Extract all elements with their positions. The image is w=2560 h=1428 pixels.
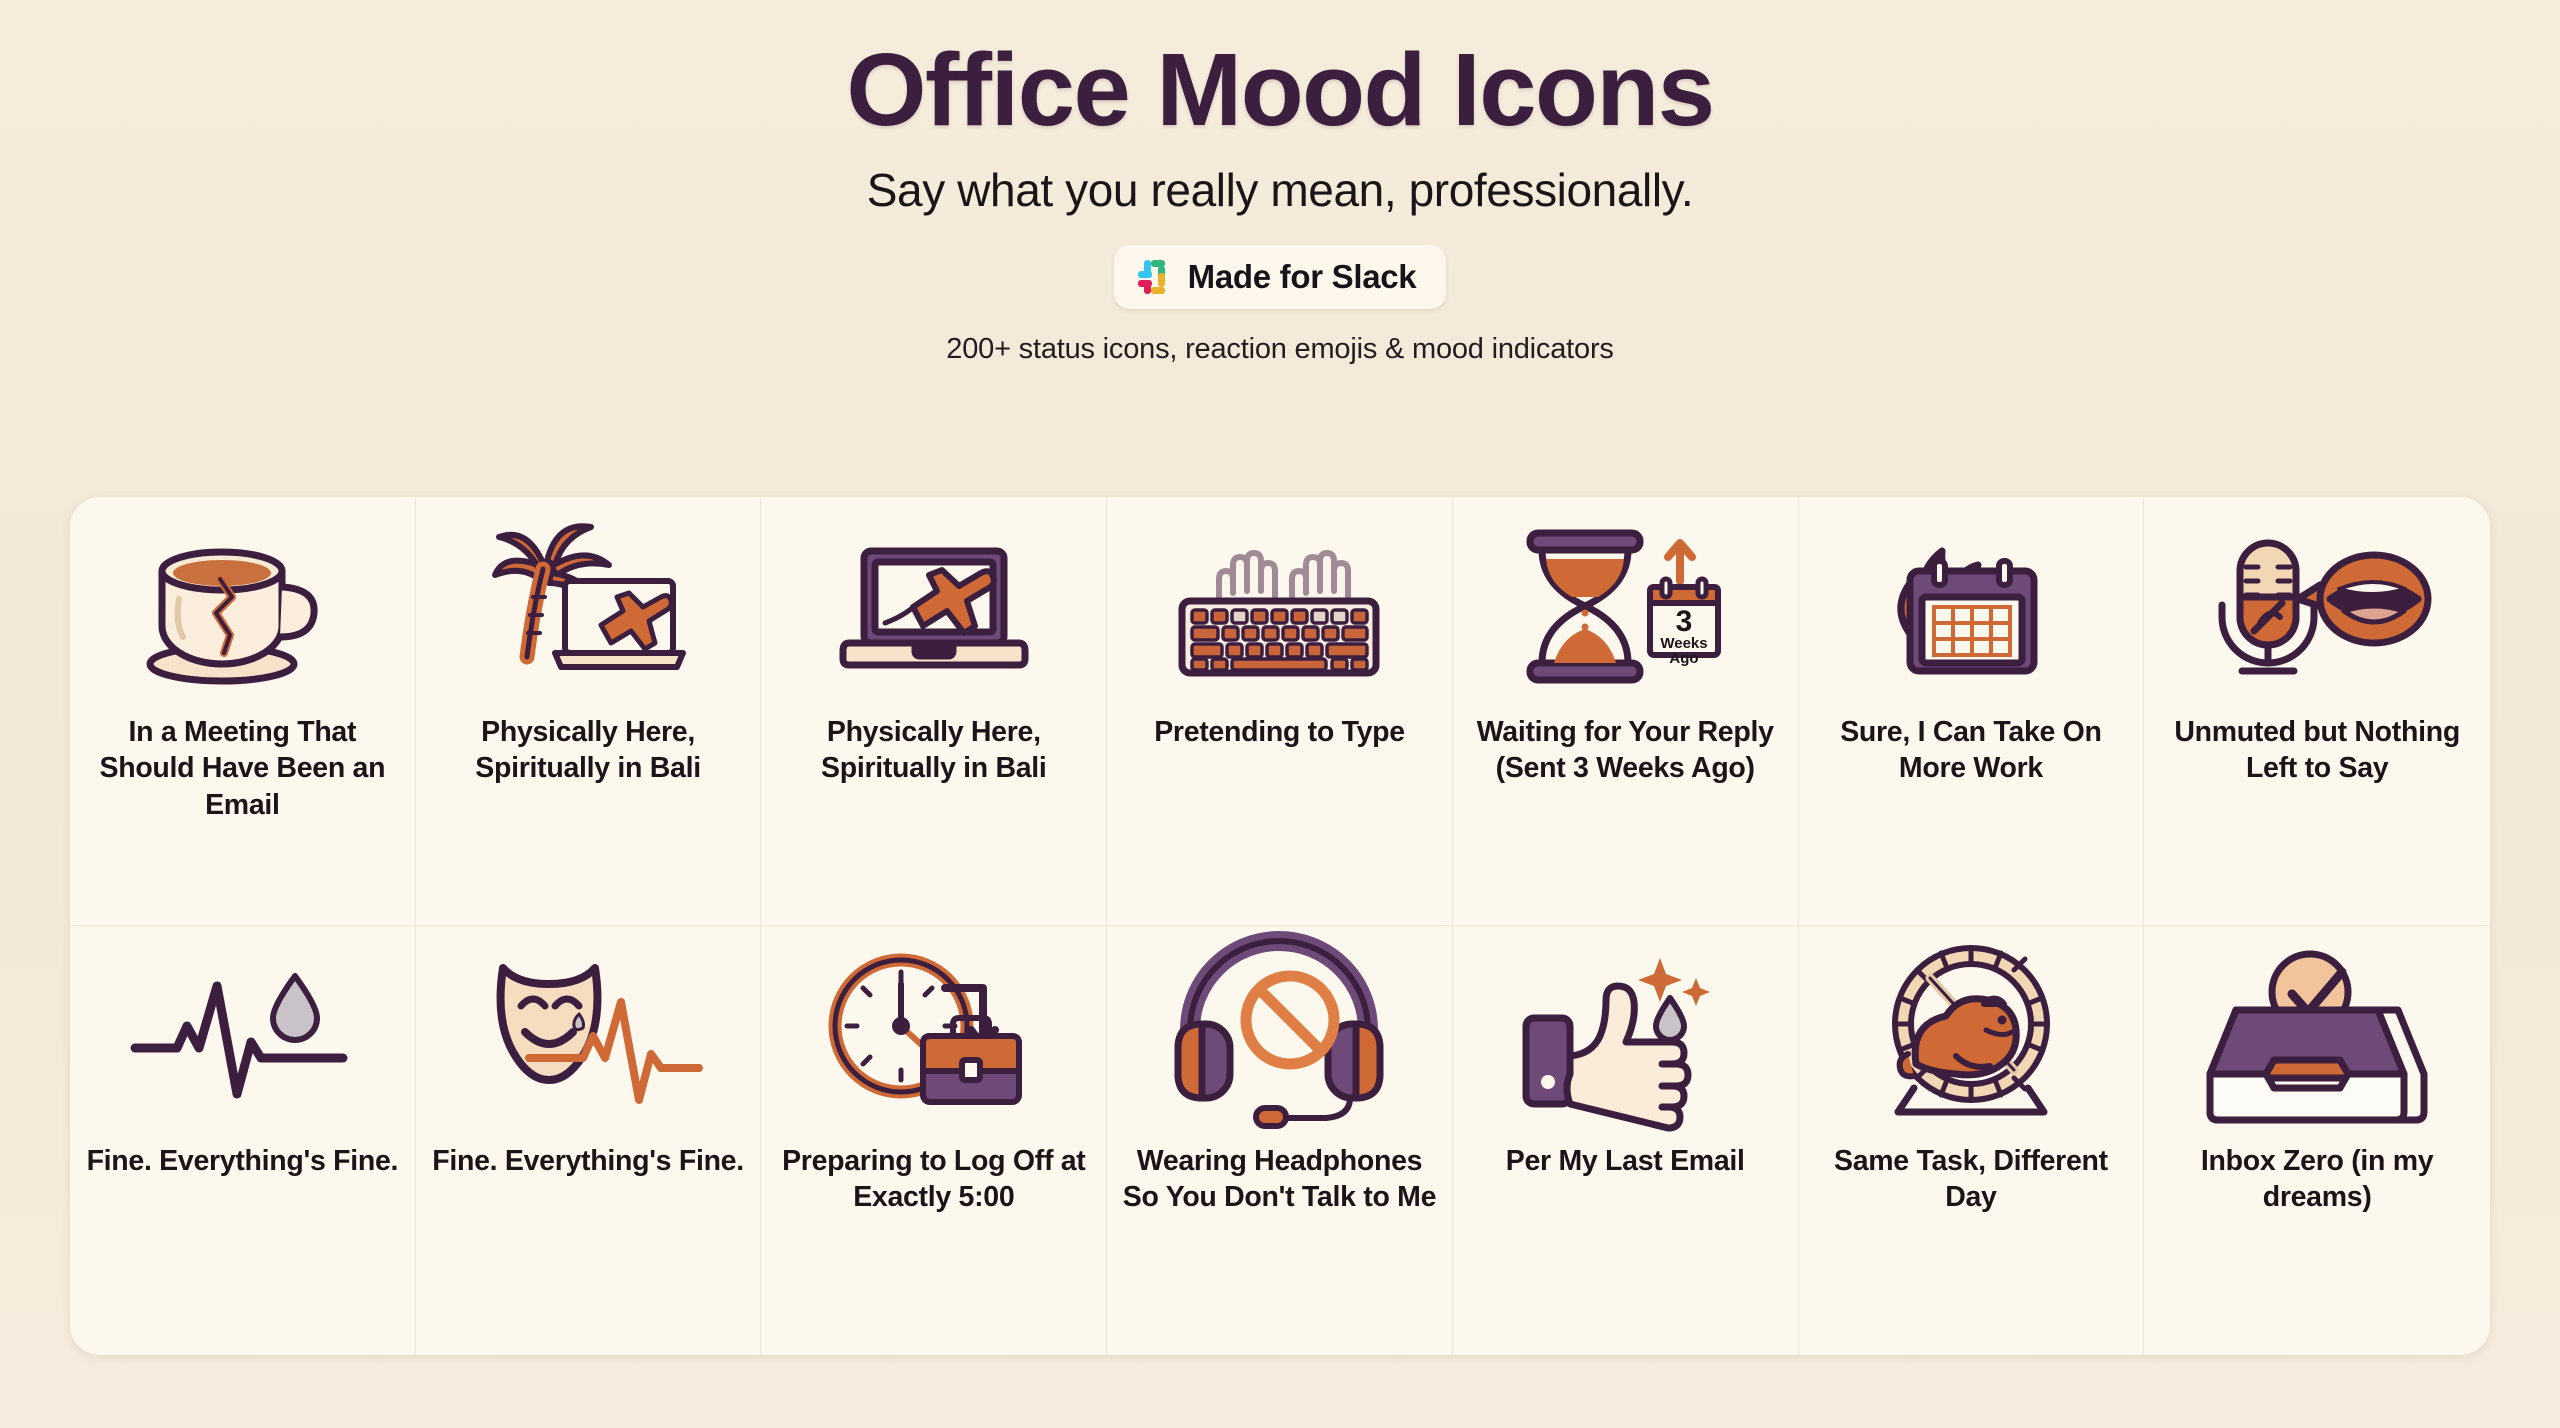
headphones-no-symbol-icon xyxy=(1164,948,1394,1123)
grid-cell[interactable]: Fine. Everything's Fine. xyxy=(70,926,416,1355)
muted-microphone-mouth-icon xyxy=(2202,519,2432,694)
cell-label: Pretending to Type xyxy=(1154,714,1405,750)
icon-grid-card: In a Meeting That Should Have Been an Em… xyxy=(70,497,2490,1355)
header: Office Mood Icons Say what you really me… xyxy=(0,0,2560,366)
grid-cell[interactable]: Inbox Zero (in my dreams) xyxy=(2144,926,2490,1355)
cell-label: Waiting for Your Reply (Sent 3 Weeks Ago… xyxy=(1467,714,1784,787)
grid-cell[interactable]: 3 Weeks Ago Waiting for Your Reply (Sent… xyxy=(1453,497,1799,926)
laptop-airplane-icon xyxy=(819,519,1049,694)
badge-line2: Ago xyxy=(1670,650,1699,667)
grid-cell[interactable]: Physically Here, Spiritually in Bali xyxy=(761,497,1107,926)
cell-label: Unmuted but Nothing Left to Say xyxy=(2158,714,2476,787)
thumbs-up-sweat-sparkle-icon xyxy=(1510,948,1740,1123)
grid-cell[interactable]: Pretending to Type xyxy=(1107,497,1453,926)
made-for-slack-badge[interactable]: Made for Slack xyxy=(1114,245,1447,309)
cell-label: Fine. Everything's Fine. xyxy=(432,1143,744,1179)
grid-cell[interactable]: In a Meeting That Should Have Been an Em… xyxy=(70,497,416,926)
icon-grid: In a Meeting That Should Have Been an Em… xyxy=(70,497,2490,1355)
cell-label: Per My Last Email xyxy=(1506,1143,1745,1179)
cell-label: In a Meeting That Should Have Been an Em… xyxy=(84,714,401,823)
grid-cell[interactable]: Preparing to Log Off at Exactly 5:00 xyxy=(761,926,1107,1355)
heartbeat-sweatdrop-icon xyxy=(127,948,357,1123)
badge-label: Made for Slack xyxy=(1188,258,1417,296)
page-subtitle: Say what you really mean, professionally… xyxy=(0,163,2560,217)
grid-cell[interactable]: Same Task, Different Day xyxy=(1799,926,2145,1355)
page-title: Office Mood Icons xyxy=(0,38,2560,141)
tagline: 200+ status icons, reaction emojis & moo… xyxy=(0,333,2560,366)
hourglass-calendar-icon: 3 Weeks Ago xyxy=(1510,519,1740,694)
cell-label: Physically Here, Spiritually in Bali xyxy=(775,714,1092,787)
cell-label: Wearing Headphones So You Don't Talk to … xyxy=(1121,1143,1438,1216)
grid-cell[interactable]: Sure, I Can Take On More Work xyxy=(1799,497,2145,926)
cell-label: Fine. Everything's Fine. xyxy=(87,1143,399,1179)
cell-label: Preparing to Log Off at Exactly 5:00 xyxy=(775,1143,1092,1216)
cell-label: Physically Here, Spiritually in Bali xyxy=(430,714,747,787)
clock-briefcase-arrow-icon xyxy=(819,948,1049,1123)
cell-label: Sure, I Can Take On More Work xyxy=(1813,714,2130,787)
badge-number: 3 xyxy=(1676,605,1693,638)
hamster-wheel-icon xyxy=(1856,948,2086,1123)
grid-cell[interactable]: Fine. Everything's Fine. xyxy=(416,926,762,1355)
keyboard-hovering-hands-icon xyxy=(1164,519,1394,694)
slack-logo-icon xyxy=(1138,260,1172,294)
smiling-mask-heartbeat-icon xyxy=(473,948,703,1123)
cracked-coffee-cup-icon xyxy=(127,519,357,694)
cell-label: Inbox Zero (in my dreams) xyxy=(2158,1143,2476,1216)
palm-tree-laptop-icon xyxy=(473,519,703,694)
grid-cell[interactable]: Per My Last Email xyxy=(1453,926,1799,1355)
calendar-on-fire-icon xyxy=(1856,519,2086,694)
grid-cell[interactable]: Unmuted but Nothing Left to Say xyxy=(2144,497,2490,926)
cell-label: Same Task, Different Day xyxy=(1813,1143,2130,1216)
grid-cell[interactable]: Wearing Headphones So You Don't Talk to … xyxy=(1107,926,1453,1355)
grid-cell[interactable]: Physically Here, Spiritually in Bali xyxy=(416,497,762,926)
inbox-tray-check-icon xyxy=(2202,948,2432,1123)
poster-page: Office Mood Icons Say what you really me… xyxy=(0,0,2560,1428)
